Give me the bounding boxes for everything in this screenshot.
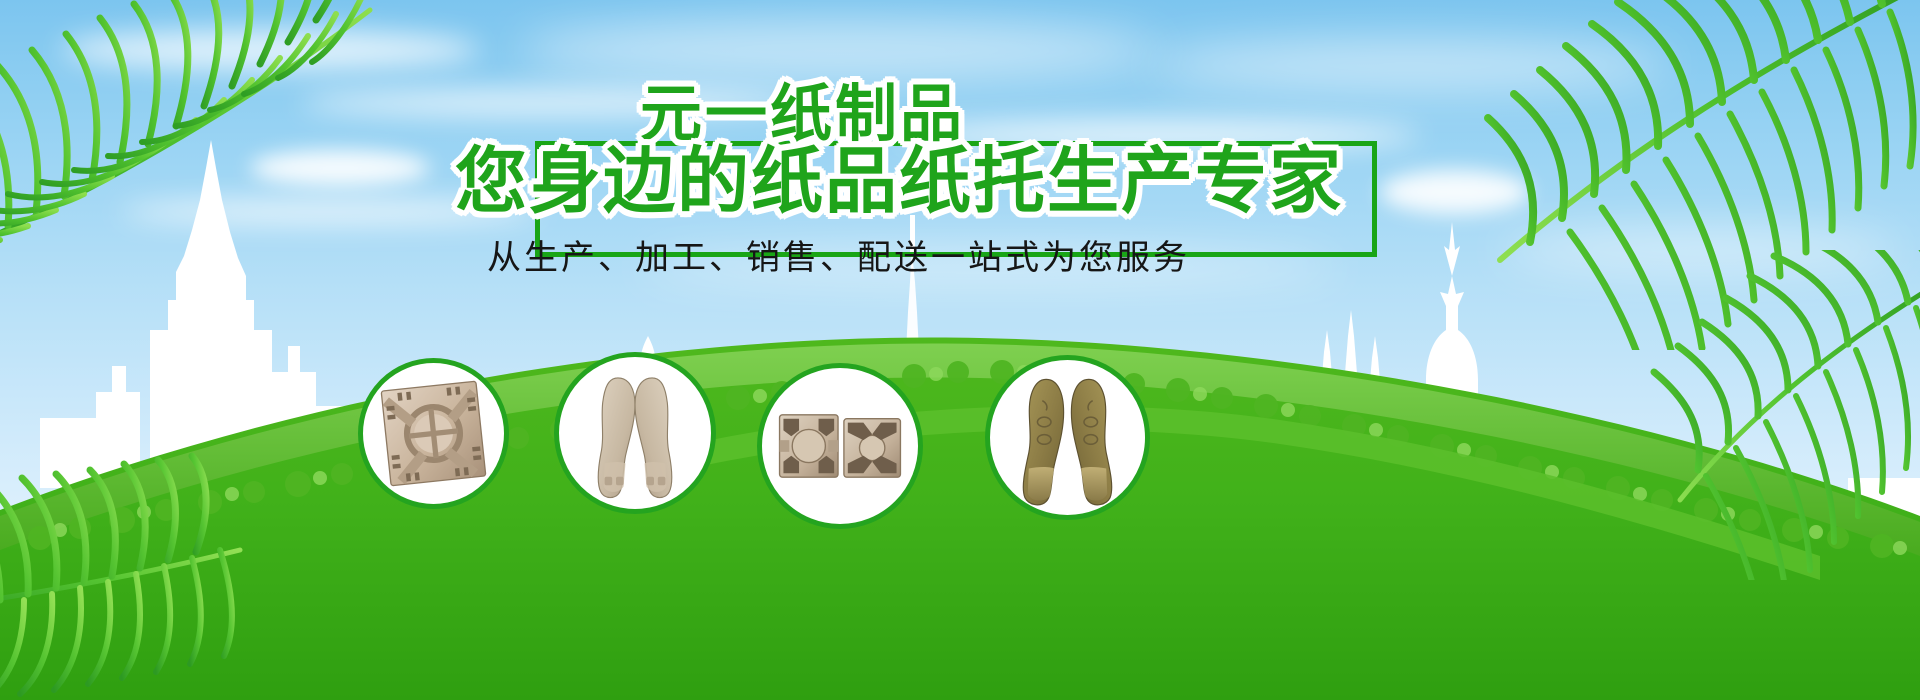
green-hill bbox=[0, 280, 1920, 700]
subtitle: 从生产、加工、销售、配送一站式为您服务 bbox=[487, 238, 1190, 280]
headline: 您身边的纸品纸托生产专家 bbox=[455, 144, 1343, 220]
molded-pulp-shoe-tree-pair-icon bbox=[990, 360, 1145, 515]
product-circle-4[interactable] bbox=[985, 355, 1150, 520]
brand-line: 元一纸制品 bbox=[640, 84, 965, 146]
product-circle-1[interactable] bbox=[358, 358, 509, 509]
molded-pulp-shoe-insole-pair-icon bbox=[559, 357, 711, 509]
molded-pulp-square-tray-icon bbox=[363, 363, 504, 504]
product-circle-2[interactable] bbox=[554, 352, 716, 514]
molded-pulp-corner-protector-pair-icon bbox=[762, 368, 918, 524]
promo-banner: 元一纸制品 您身边的纸品纸托生产专家 从生产、加工、销售、配送一站式为您服务 bbox=[0, 0, 1920, 700]
product-circle-3[interactable] bbox=[757, 363, 923, 529]
